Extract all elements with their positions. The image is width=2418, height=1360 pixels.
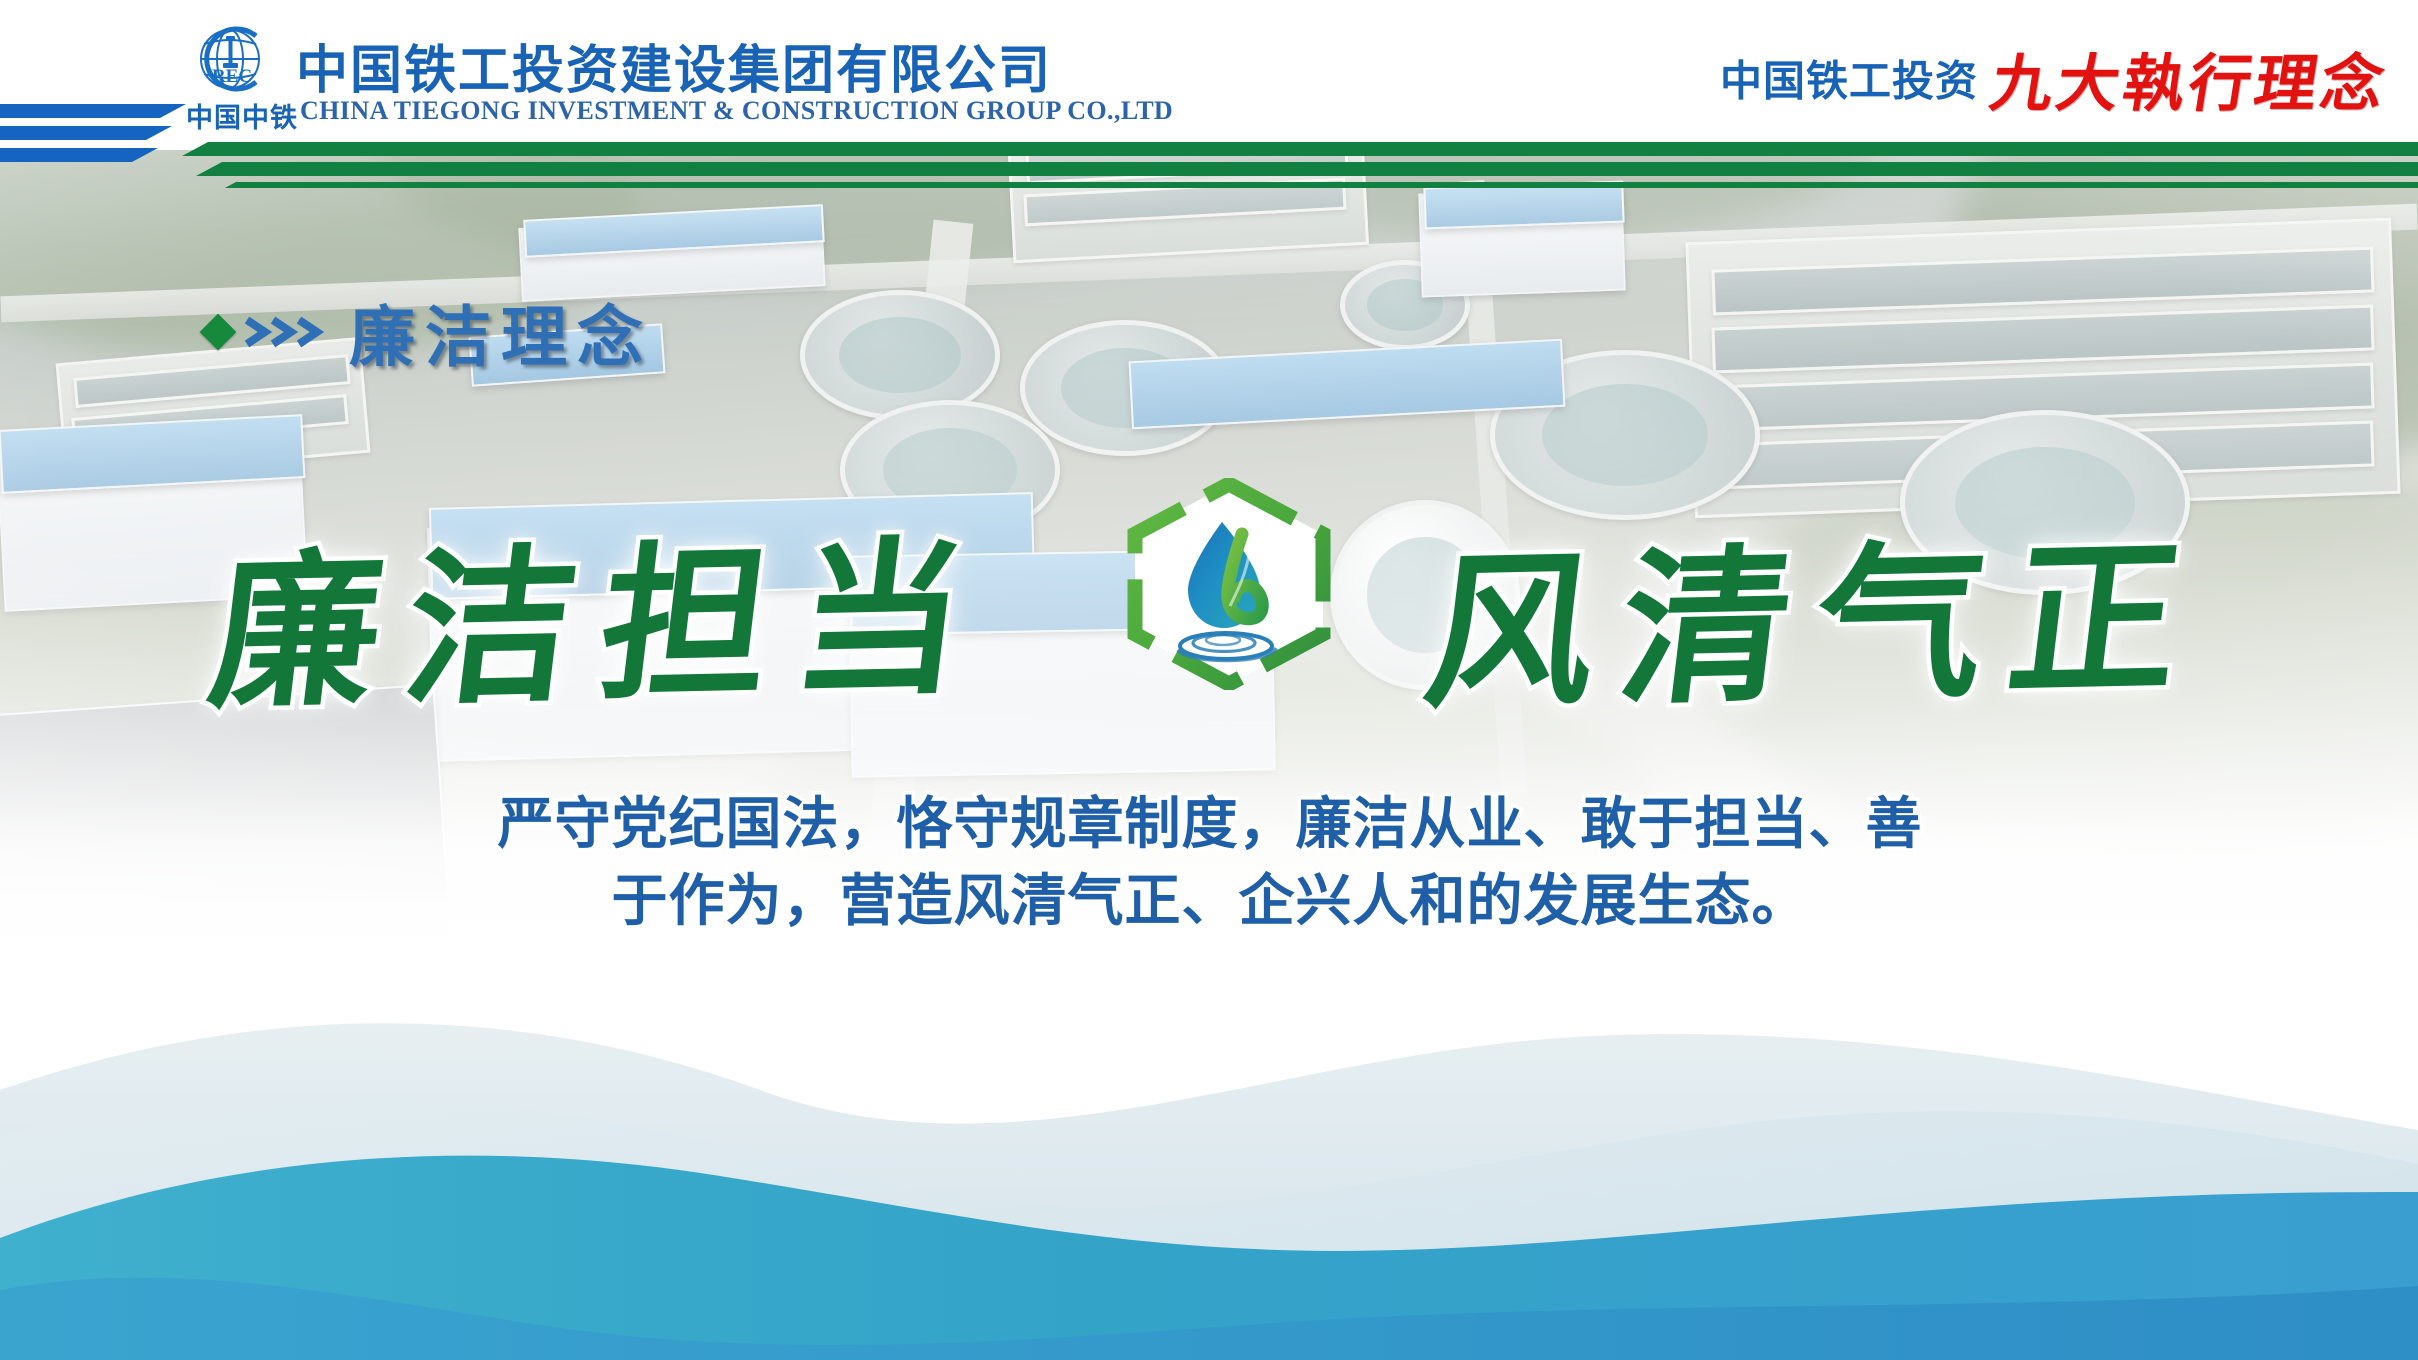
calligraphy-left: 廉洁担当 <box>199 482 1006 741</box>
diamond-icon <box>200 314 237 351</box>
blue-stripes <box>0 104 186 162</box>
water-droplet-hexagon-logo <box>1118 478 1340 690</box>
body-paragraph: 严守党纪国法，恪守规章制度，廉洁从业、敢于担当、善 于作为，营造风清气正、企兴人… <box>330 786 2090 941</box>
green-stripes <box>182 142 2418 188</box>
section-title-text: 廉洁理念 <box>349 284 653 380</box>
bottom-wave-decoration <box>0 940 2418 1360</box>
crec-logo-icon: REC <box>186 20 278 98</box>
company-name-cn: 中国铁工投资建设集团有限公司 <box>296 28 1052 103</box>
chevrons-right-icon <box>241 312 327 352</box>
calligraphy-right: 风清气正 <box>1414 482 2221 741</box>
body-line-1: 严守党纪国法，恪守规章制度，廉洁从业、敢于担当、善 <box>498 792 1923 857</box>
section-title: 廉洁理念 <box>205 284 653 380</box>
diagonal-stripe-ribbons <box>0 96 2418 188</box>
body-line-2: 于作为，营造风清气正、企兴人和的发展生态。 <box>330 863 2090 940</box>
company-logo: REC <box>186 20 286 98</box>
poster-canvas: REC 中国中铁 中国铁工投资建设集团有限公司 CHINA TIEGONG IN… <box>0 0 2418 1360</box>
svg-text:REC: REC <box>212 66 252 87</box>
